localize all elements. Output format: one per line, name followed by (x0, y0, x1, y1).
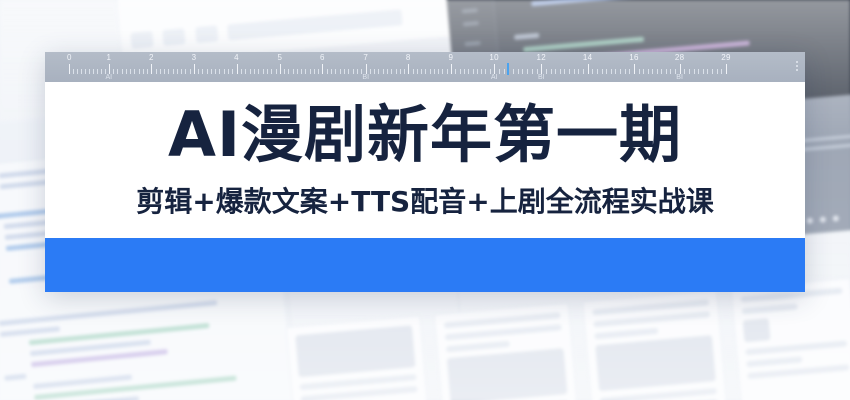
ruler-region-markers: AIBIAIBIBI (45, 72, 805, 82)
poster-accent-bar (45, 238, 805, 292)
dot-icon (833, 215, 840, 222)
ruler-number-29: 29 (721, 53, 731, 63)
toolbar-chip (163, 28, 186, 46)
ruler-number-5: 5 (277, 53, 282, 63)
right-panel-code (798, 131, 850, 158)
ruler-number-3: 3 (192, 53, 197, 63)
poster-subline: 剪辑+爆款文案+TTS配音+上剧全流程实战课 (45, 188, 805, 216)
ruler-number-4: 4 (234, 53, 239, 63)
window-dots (807, 215, 839, 224)
more-vertical-icon[interactable] (796, 61, 798, 71)
ruler-marker-bi: BI (362, 73, 369, 82)
ruler-number-2: 2 (149, 53, 154, 63)
ruler-number-1: 1 (106, 53, 111, 63)
poster-canvas: 0123456789101214162829 AIBIAIBIBI AI漫剧新年… (0, 0, 850, 400)
poster-headline: AI漫剧新年第一期 (45, 104, 805, 166)
ruler-number-14: 14 (583, 53, 593, 63)
ruler-number-0: 0 (67, 53, 72, 63)
ruler-number-10: 10 (489, 53, 499, 63)
toolbar-chip (130, 31, 153, 49)
ruler-marker-ai: AI (106, 73, 113, 82)
poster-text-block: AI漫剧新年第一期 剪辑+爆款文案+TTS配音+上剧全流程实战课 (45, 82, 805, 238)
ruler-number-12: 12 (537, 53, 547, 63)
dot-icon (820, 216, 827, 223)
background-skeleton-cards (286, 273, 850, 400)
ruler-marker-bi: BI (538, 73, 545, 82)
ruler-number-labels: 0123456789101214162829 (45, 53, 805, 64)
ruler[interactable]: 0123456789101214162829 AIBIAIBIBI (45, 52, 805, 82)
ruler-cursor[interactable] (507, 63, 509, 75)
skeleton-card (286, 315, 432, 400)
ruler-number-16: 16 (629, 53, 639, 63)
skeleton-card (434, 303, 580, 400)
skeleton-card (731, 278, 850, 400)
ruler-number-28: 28 (675, 53, 685, 63)
ruler-marker-ai: AI (491, 73, 498, 82)
toolbar-chip (195, 25, 218, 43)
ruler-number-9: 9 (448, 53, 453, 63)
ruler-marker-bi: BI (676, 73, 683, 82)
toolbar-chip (227, 9, 403, 40)
dot-icon (807, 217, 814, 224)
ruler-number-6: 6 (320, 53, 325, 63)
ruler-number-8: 8 (406, 53, 411, 63)
ruler-number-7: 7 (363, 53, 368, 63)
poster-card: 0123456789101214162829 AIBIAIBIBI AI漫剧新年… (45, 52, 805, 292)
skeleton-card (582, 290, 728, 400)
